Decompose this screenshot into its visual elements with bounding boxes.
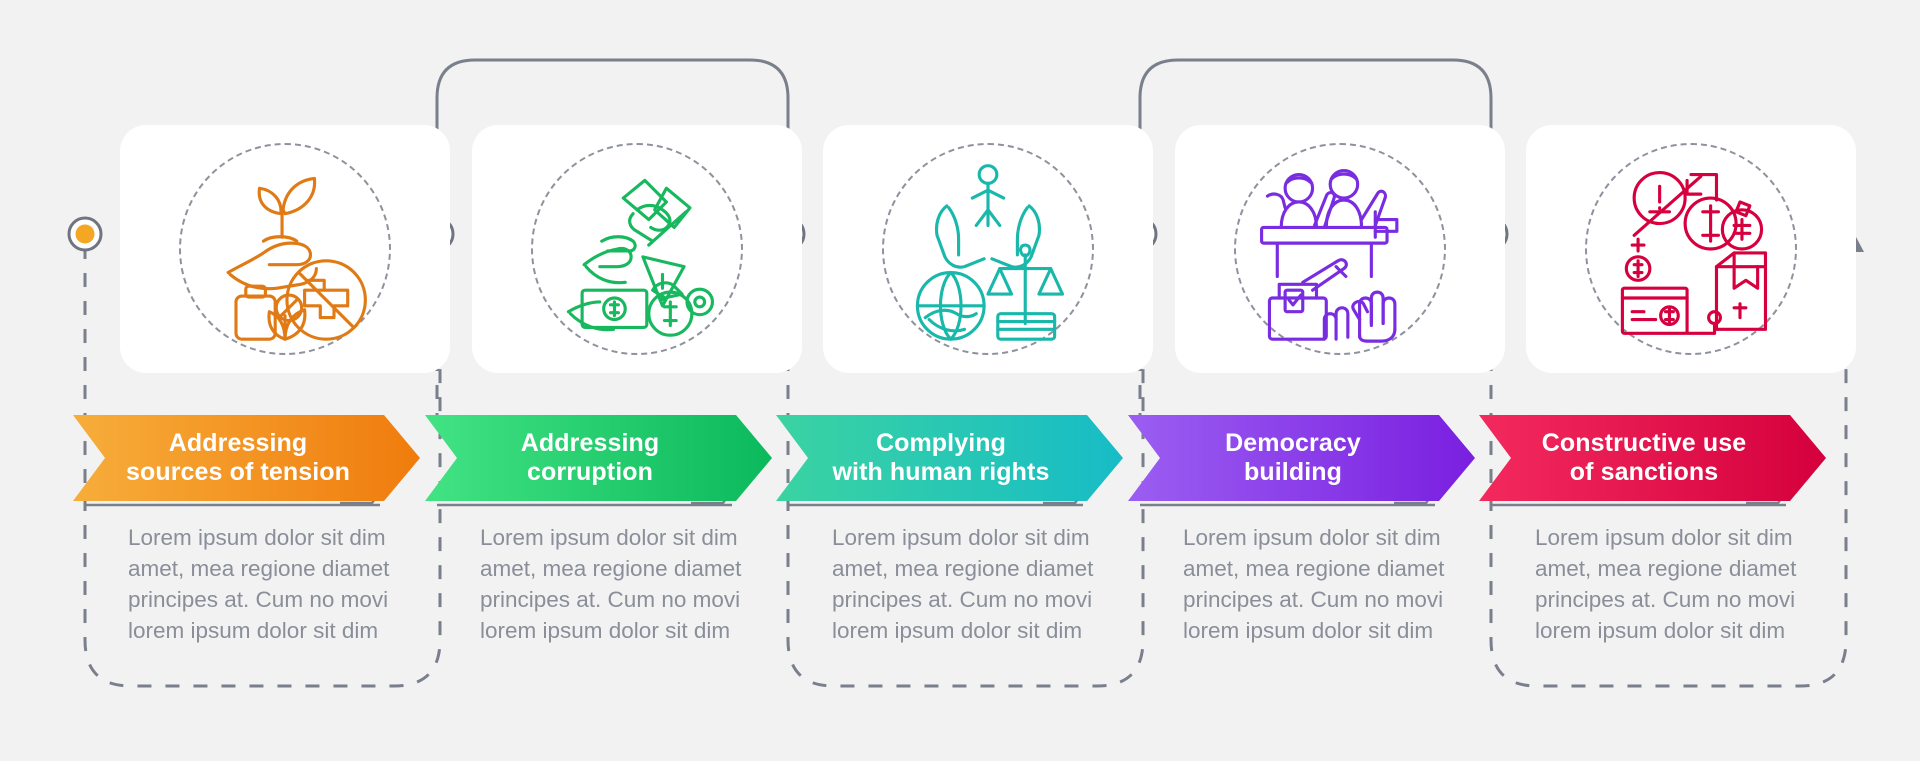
bribe-handshake-money-icon xyxy=(539,151,735,347)
seedling-hand-drugs-no-weapon-icon xyxy=(187,151,383,347)
banner-row: Addressing sources of tension Addressing… xyxy=(0,415,1920,501)
icon-card-3 xyxy=(823,125,1153,373)
icon-card-2 xyxy=(472,125,802,373)
human-rights-hands-scales-icon xyxy=(890,151,1086,347)
icon-card-4 xyxy=(1175,125,1505,373)
infographic-canvas: Addressing sources of tension Addressing… xyxy=(0,0,1920,761)
description-5: Lorem ipsum dolor sit dim amet, mea regi… xyxy=(1535,522,1825,646)
description-1: Lorem ipsum dolor sit dim amet, mea regi… xyxy=(128,522,418,646)
description-2: Lorem ipsum dolor sit dim amet, mea regi… xyxy=(480,522,770,646)
description-4: Lorem ipsum dolor sit dim amet, mea regi… xyxy=(1183,522,1473,646)
description-3: Lorem ipsum dolor sit dim amet, mea regi… xyxy=(832,522,1122,646)
sanctions-trade-restriction-icon xyxy=(1593,151,1789,347)
connector-layer xyxy=(0,0,1920,761)
banner-5[interactable] xyxy=(1406,415,1826,501)
icon-card-1 xyxy=(120,125,450,373)
voting-ballot-raised-hands-icon xyxy=(1242,151,1438,347)
step-marker-1[interactable] xyxy=(69,218,101,250)
icon-card-5 xyxy=(1526,125,1856,373)
